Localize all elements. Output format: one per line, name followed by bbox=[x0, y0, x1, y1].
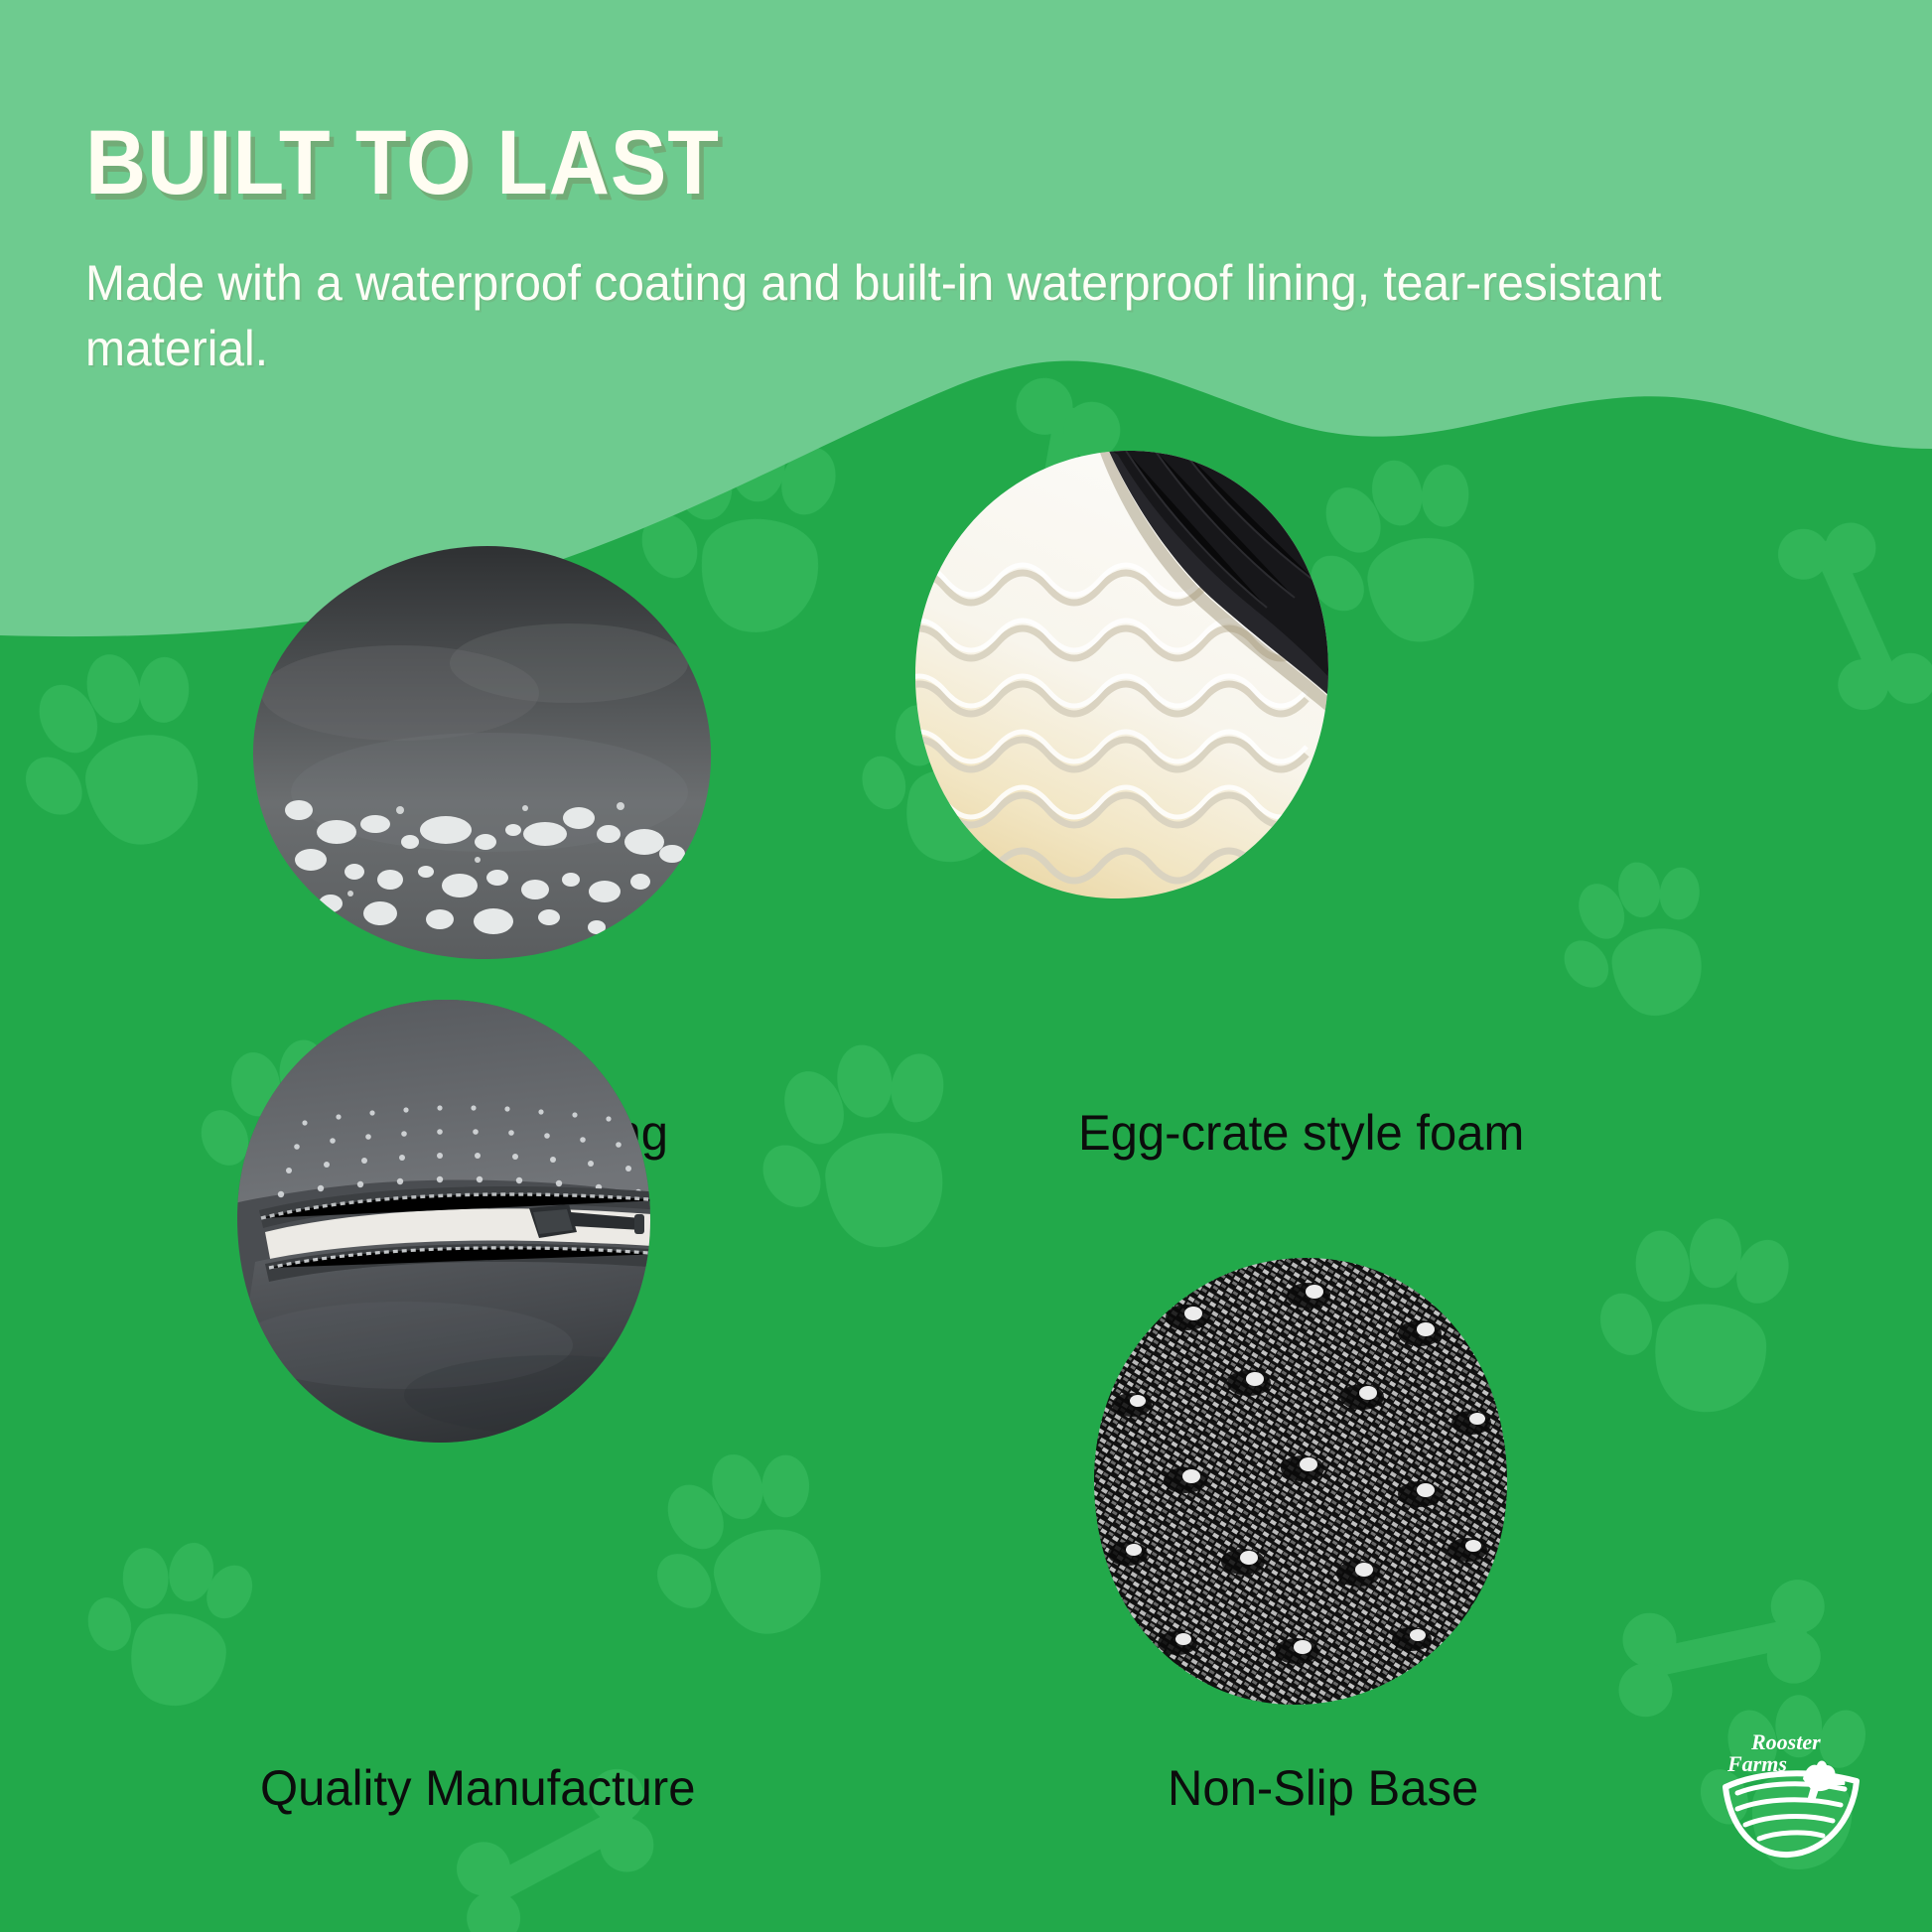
feature-caption-quality-manufacture: Quality Manufacture bbox=[260, 1759, 695, 1817]
feature-image-egg-crate-foam bbox=[913, 449, 1330, 900]
feature-image-non-slip-base bbox=[1092, 1256, 1509, 1708]
header-block: BUILT TO LAST Made with a waterproof coa… bbox=[0, 0, 1932, 417]
page-title: BUILT TO LAST bbox=[85, 111, 720, 215]
feature-caption-non-slip-base: Non-Slip Base bbox=[1168, 1759, 1478, 1817]
brand-name-line2: Farms bbox=[1726, 1751, 1787, 1776]
brand-logo: Rooster Farms bbox=[1708, 1725, 1876, 1874]
feature-caption-egg-crate-foam: Egg-crate style foam bbox=[1078, 1104, 1524, 1162]
infographic-canvas: BUILT TO LAST Made with a waterproof coa… bbox=[0, 0, 1932, 1932]
feature-image-quality-manufacture bbox=[235, 998, 652, 1445]
feature-image-waterproof-lining bbox=[251, 544, 713, 961]
rooster-farms-logo-icon: Rooster Farms bbox=[1708, 1725, 1876, 1874]
page-subtitle: Made with a waterproof coating and built… bbox=[85, 250, 1763, 381]
